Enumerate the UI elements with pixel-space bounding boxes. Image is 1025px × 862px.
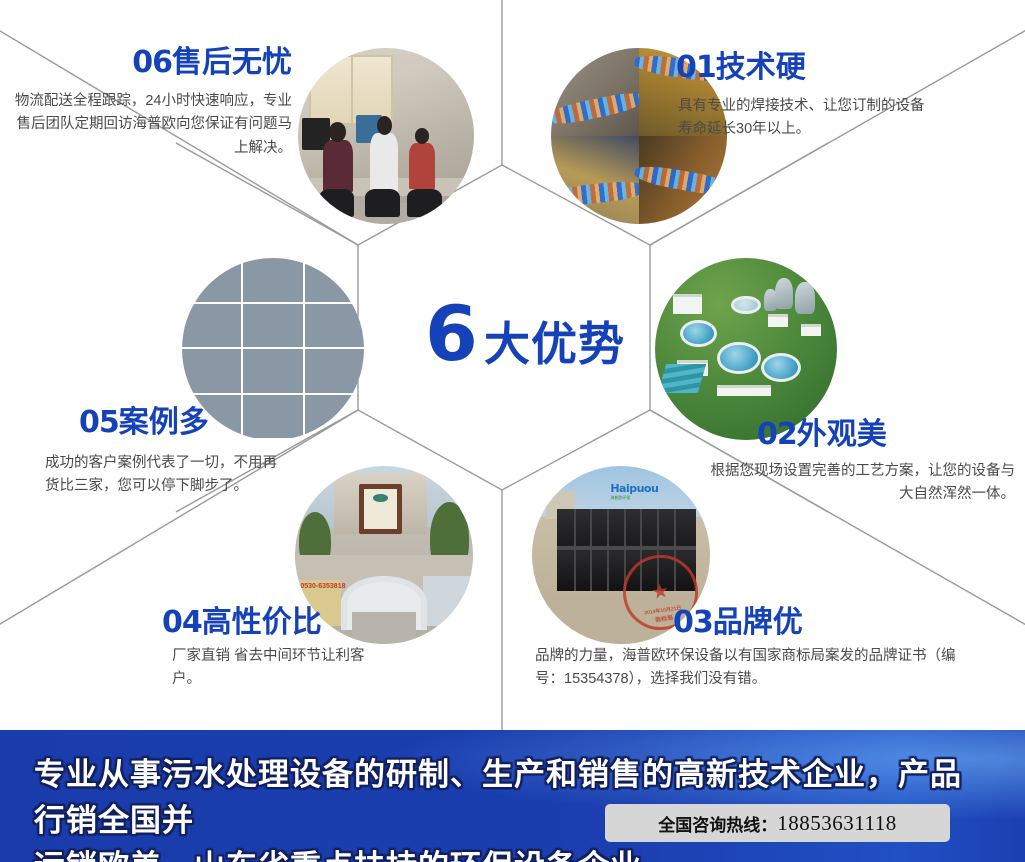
item-title-06: 06售后无忧	[0, 48, 292, 78]
center-label: 6 大优势	[395, 296, 655, 376]
item-title-02: 02外观美	[757, 420, 1025, 450]
hotline-label: 全国咨询热线：	[658, 811, 777, 836]
item-desc-04: 厂家直销 省去中间环节让利客户。	[172, 645, 387, 692]
photo-circle-06	[298, 48, 474, 224]
center-number: 6	[425, 296, 476, 372]
gate-phone-text: 0530-6353818	[300, 583, 345, 590]
center-text: 大优势	[484, 321, 625, 367]
item-title-01: 01技术硬	[676, 53, 996, 83]
bottom-banner: 专业从事污水处理设备的研制、生产和销售的高新技术企业，产品行销全国并 远销欧美，…	[0, 730, 1025, 862]
item-desc-01: 具有专业的焊接技术、让您订制的设备寿命延长30年以上。	[678, 95, 931, 142]
item-desc-06: 物流配送全程跟踪，24小时快速响应，专业售后团队定期回访海普欧向您保证有问题马上…	[12, 90, 292, 160]
banner-line-2: 远销欧美，山东省重点扶持的环保设备企业。	[34, 849, 674, 862]
item-desc-05: 成功的客户案例代表了一切，不用再货比三家，您可以停下脚步了。	[45, 452, 285, 499]
infographic-stage: 6 大优势	[0, 0, 1025, 862]
office-staff-photo	[298, 48, 474, 224]
hotline-number: 18853631118	[777, 811, 896, 836]
item-desc-02: 根据您现场设置完善的工艺方案，让您的设备与大自然浑然一体。	[705, 460, 1015, 507]
haipuou-logo: Haipuou 海普欧环保	[610, 482, 658, 501]
item-title-05: 05案例多	[79, 408, 379, 438]
hotline-box[interactable]: 全国咨询热线： 18853631118	[605, 804, 950, 842]
photo-circle-02	[655, 258, 837, 440]
item-desc-03: 品牌的力量，海普欧环保设备以有国家商标局案发的品牌证书（编号：15354378）…	[535, 645, 965, 692]
wastewater-plant-aerial-photo	[655, 258, 837, 440]
item-title-03: 03品牌优	[673, 608, 973, 638]
item-title-04: 04高性价比	[162, 608, 462, 638]
